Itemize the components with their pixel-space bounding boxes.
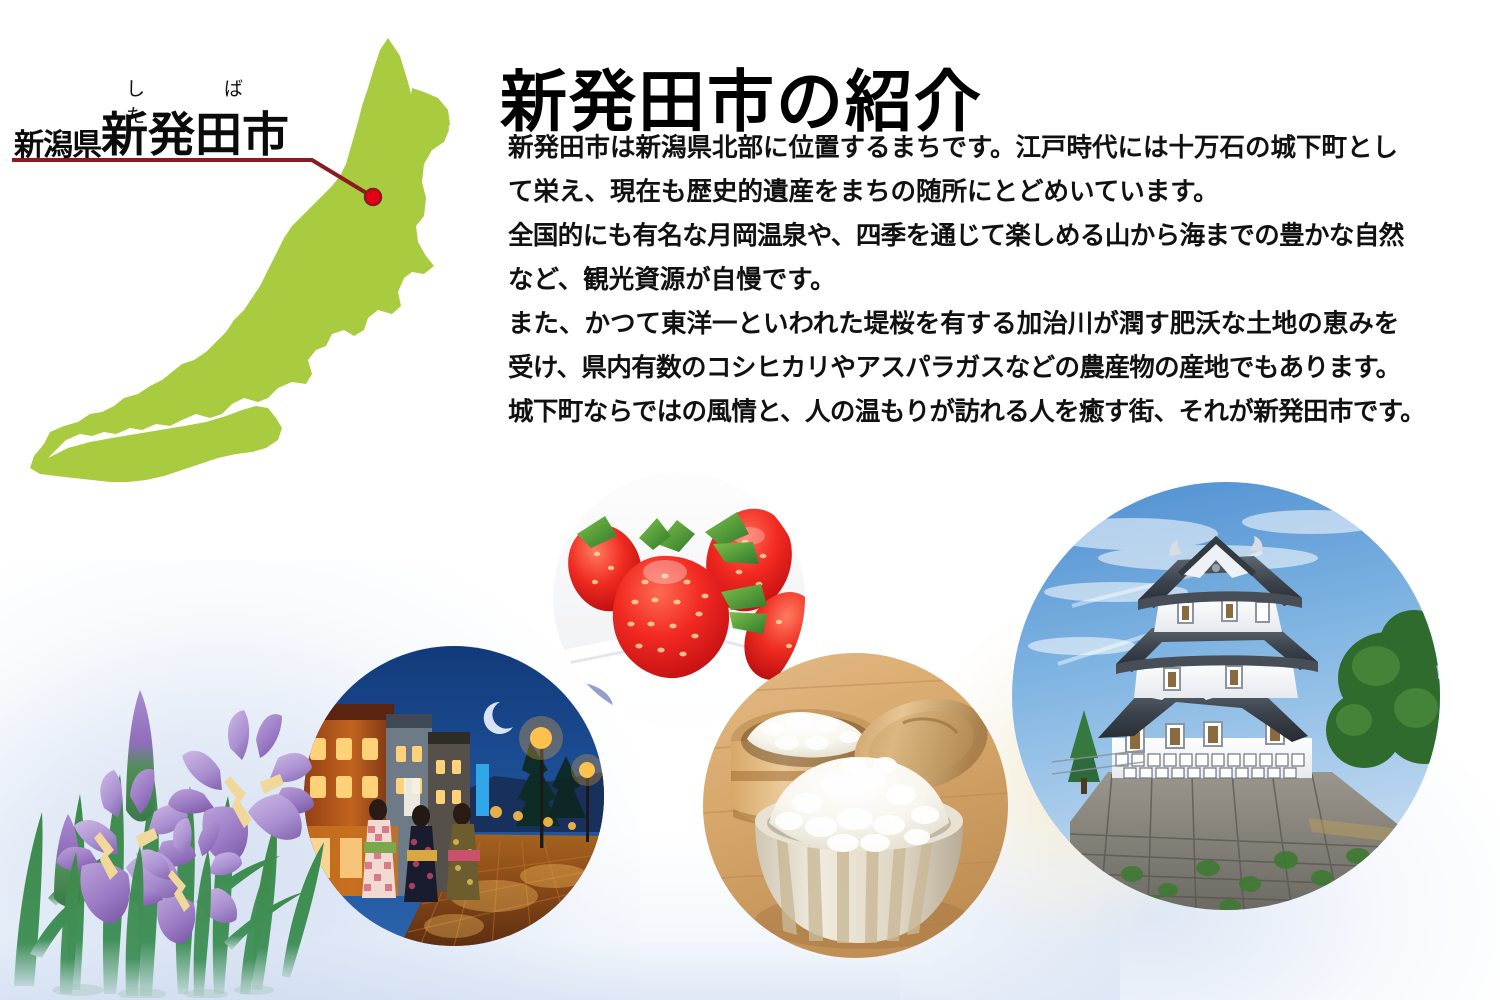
rice-bowl-image <box>703 653 1008 958</box>
onsen-town-image <box>304 646 604 946</box>
shibata-location-marker <box>364 188 382 206</box>
body-line-1: 新発田市は新潟県北部に位置するまちです。江戸時代には十万石の城下町とし <box>508 126 1483 170</box>
body-line-6: 受け、県内有数のコシヒカリやアスパラガスなどの農産物の産地でもあります。 <box>508 346 1483 390</box>
iris-flowers-illustration <box>8 598 338 998</box>
prefecture-city-badge: し ば た 新潟県新発田市 <box>14 62 344 172</box>
badge-main-line: 新潟県新発田市 <box>14 96 289 165</box>
body-line-2: て栄え、現在も歴史的遺産をまちの随所にとどめいています。 <box>508 170 1483 214</box>
body-line-3: 全国的にも有名な月岡温泉や、四季を通じて楽しめる山から海までの豊かな自然 <box>508 214 1483 258</box>
shibata-castle-image <box>1012 482 1440 910</box>
intro-body-text: 新発田市は新潟県北部に位置するまちです。江戸時代には十万石の城下町とし て栄え、… <box>508 126 1483 434</box>
body-line-4: など、観光資源が自慢です。 <box>508 258 1483 302</box>
body-line-5: また、かつて東洋一といわれた堤桜を有する加治川が潤す肥沃な土地の恵みを <box>508 302 1483 346</box>
body-line-7: 城下町ならではの風情と、人の温もりが訪れる人を癒す街、それが新発田市です。 <box>508 390 1483 434</box>
onsen-town-night-photo <box>304 646 604 946</box>
shibata-castle-photo <box>1012 482 1440 910</box>
prefecture-label: 新潟県 <box>14 128 101 163</box>
page-root: し ば た 新潟県新発田市 新発田市の紹介 新発田市は新潟県北部に位置するまちで… <box>0 0 1500 1000</box>
city-label: 新発田市 <box>101 108 289 163</box>
rice-bowl-photo <box>703 653 1008 958</box>
